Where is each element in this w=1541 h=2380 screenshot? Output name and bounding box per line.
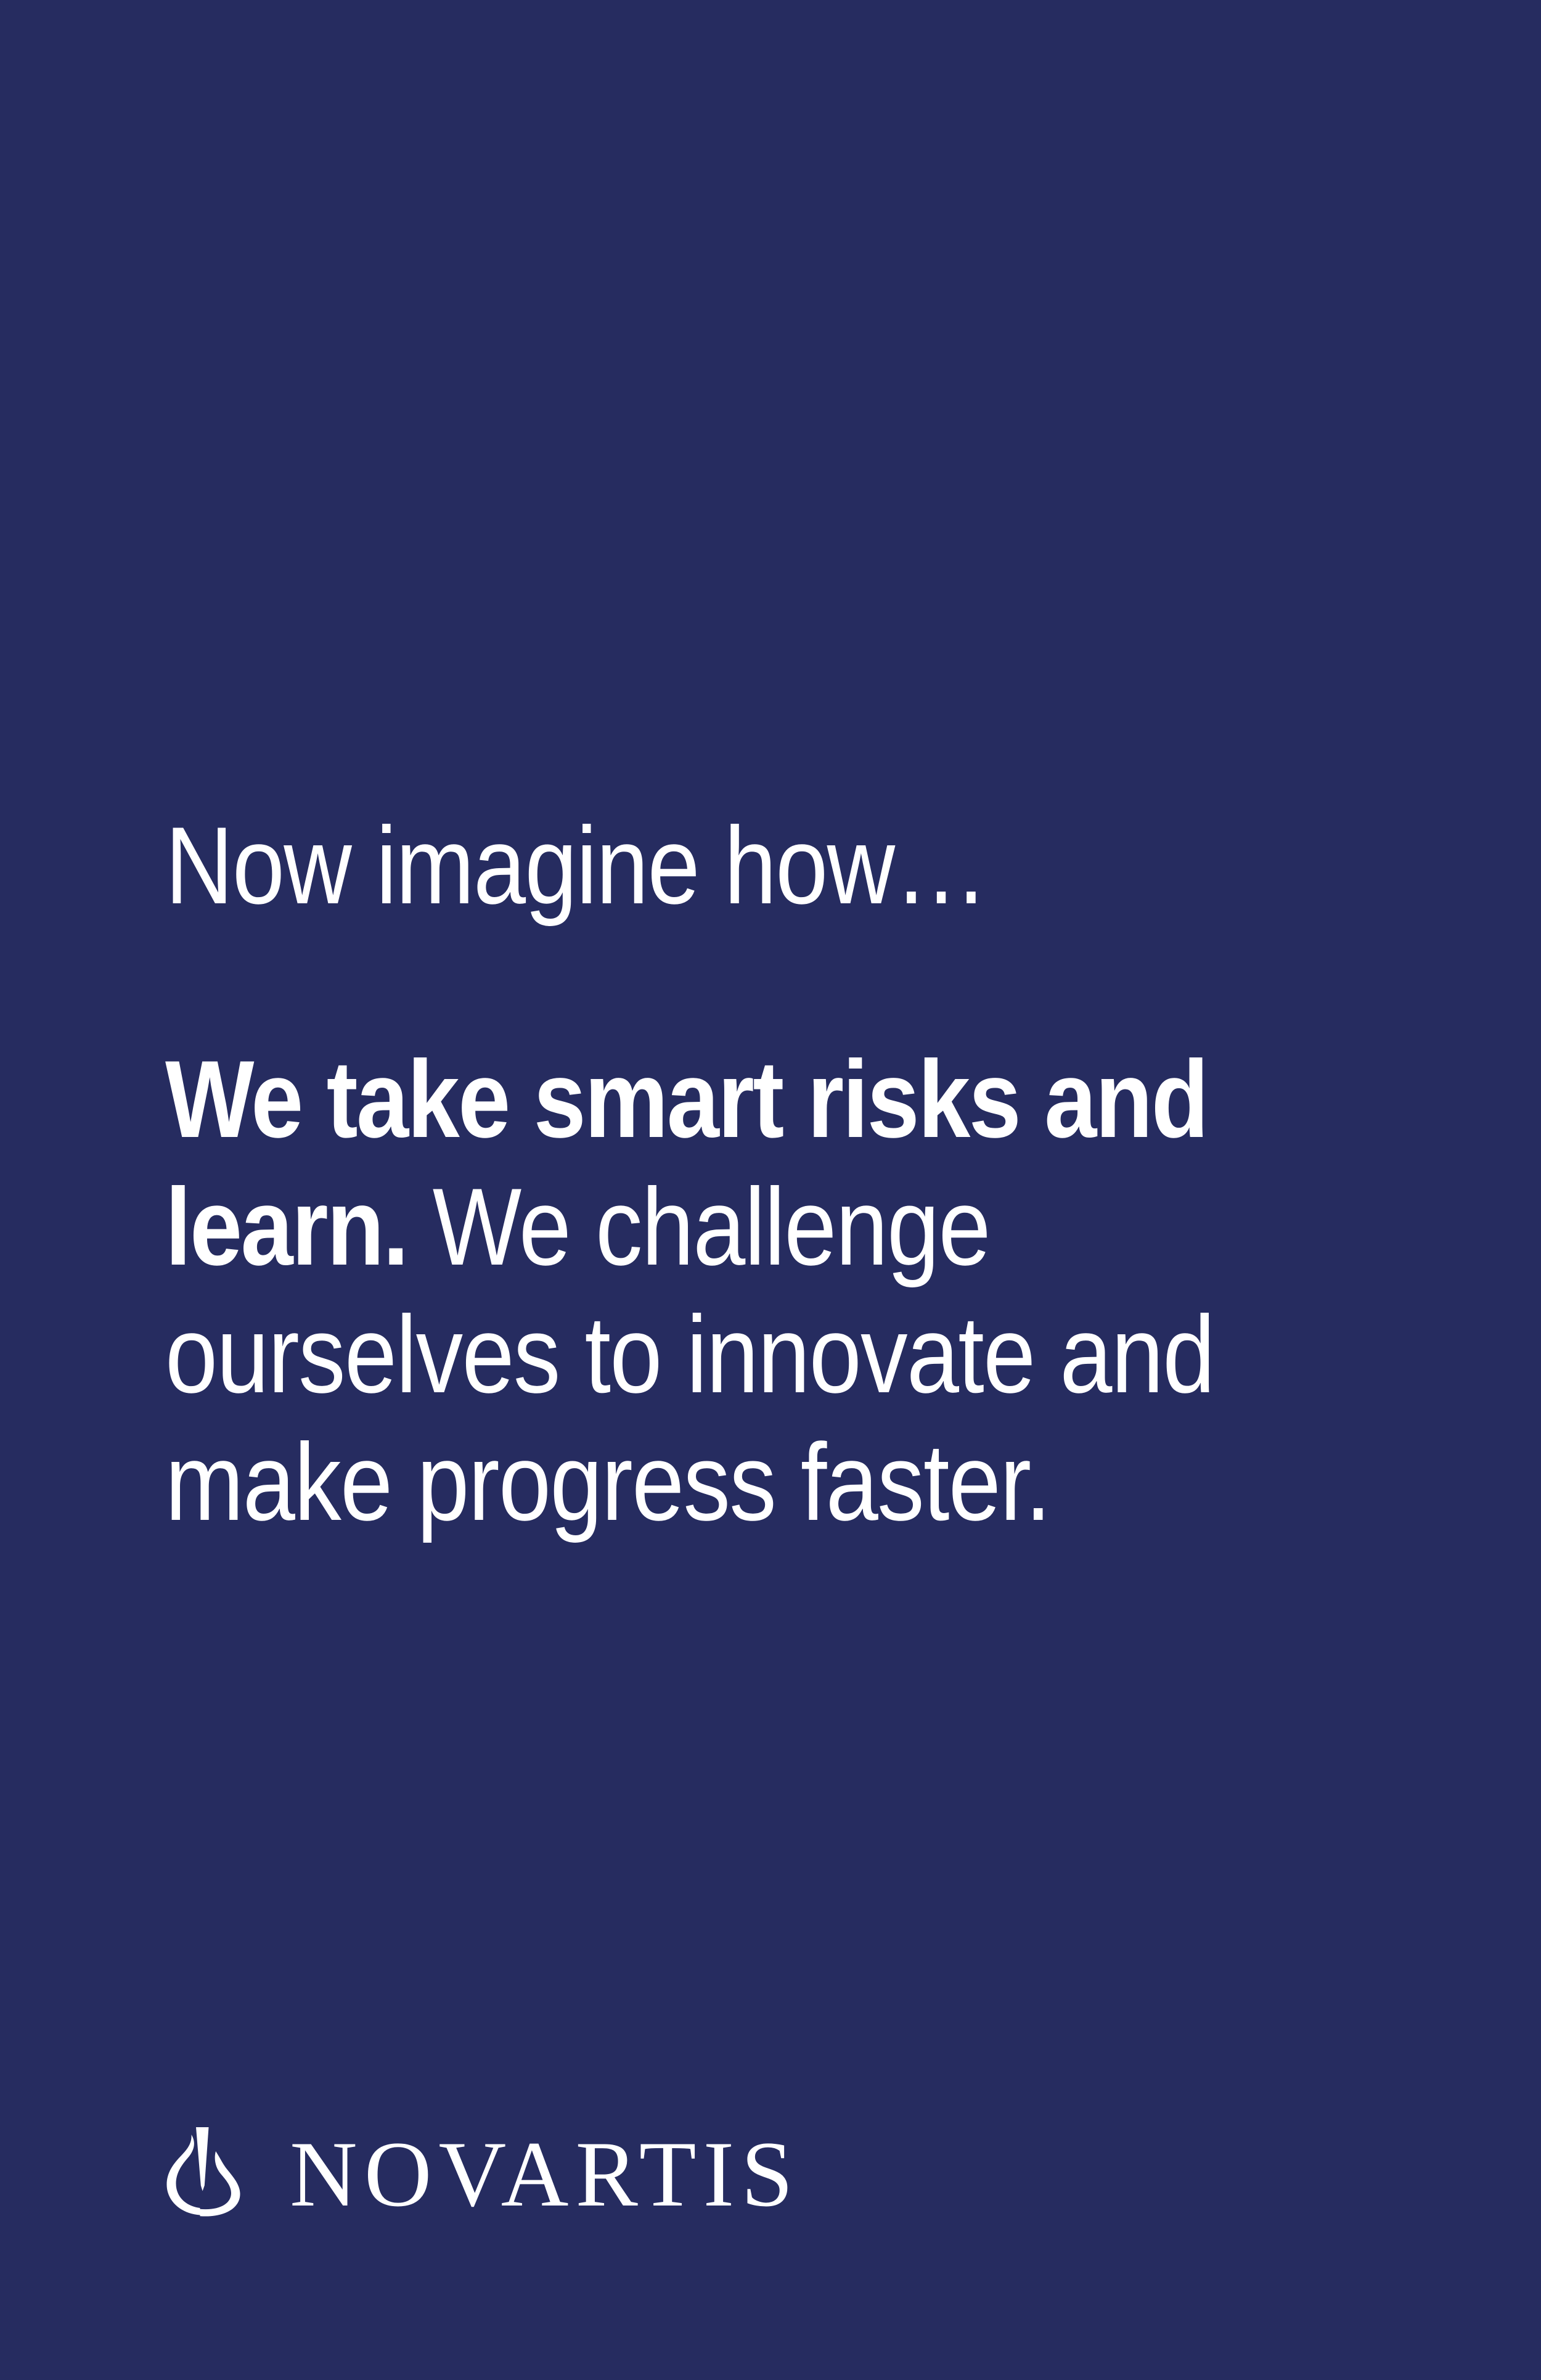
paragraph-spacer [165,929,1373,1035]
copy-block: Now imagine how… We take smart risks and… [165,802,1373,1546]
statement-paragraph: We take smart risks and learn. We challe… [165,1035,1374,1546]
poster-canvas: Now imagine how… We take smart risks and… [0,0,1541,2380]
novartis-logo: NOVARTIS [161,2121,800,2223]
kicker-line: Now imagine how… [165,802,1204,929]
novartis-wordmark: NOVARTIS [290,2127,800,2223]
novartis-flame-mark-icon [161,2121,245,2223]
